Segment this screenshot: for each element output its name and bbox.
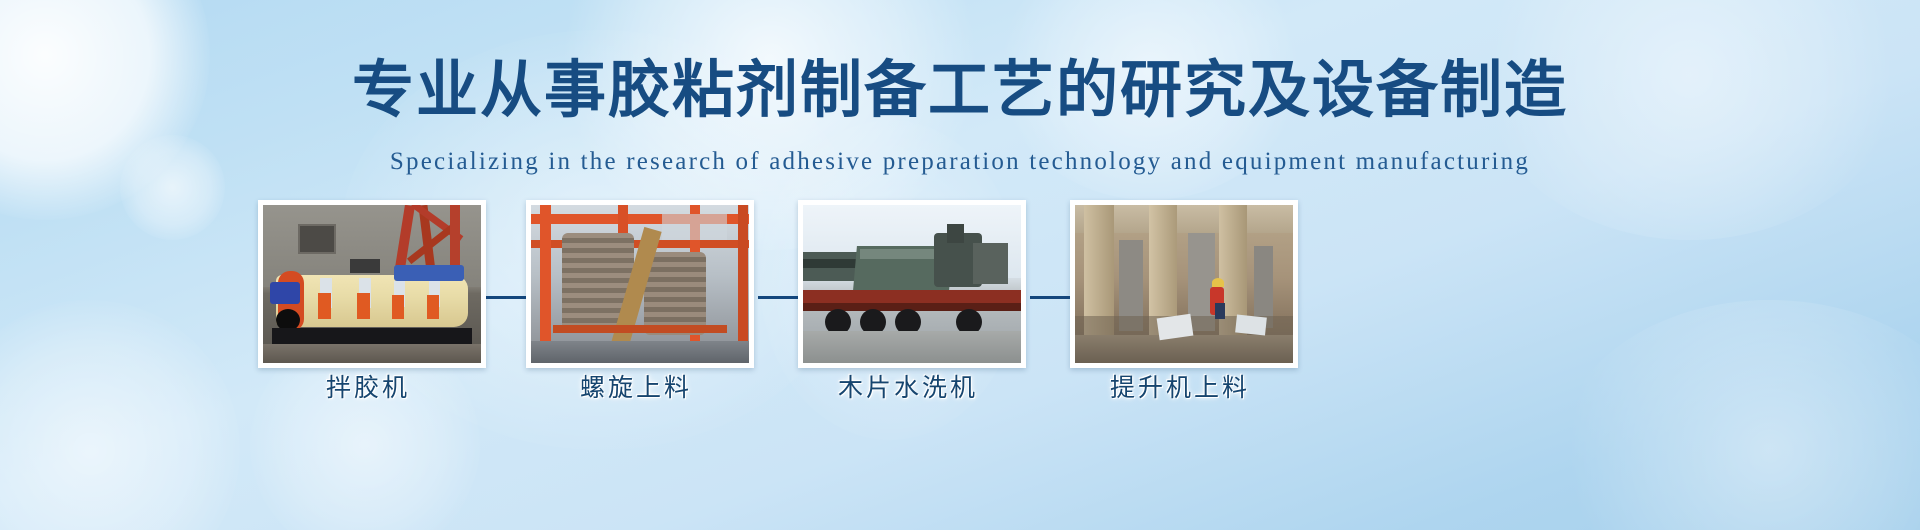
product-photo-strip: 拌胶机 螺旋上料 木片水洗机 提升机上料 bbox=[0, 200, 1920, 420]
hero-banner: 专业从事胶粘剂制备工艺的研究及设备制造 Specializing in the … bbox=[0, 0, 1920, 530]
gallery-caption-3: 木片水洗机 bbox=[758, 368, 1058, 404]
gallery-photo-4[interactable] bbox=[1070, 200, 1298, 368]
gallery-caption-2: 螺旋上料 bbox=[486, 368, 786, 404]
gallery-caption-1: 拌胶机 bbox=[218, 368, 518, 404]
banner-headline: 专业从事胶粘剂制备工艺的研究及设备制造 bbox=[0, 55, 1920, 124]
gallery-photo-3[interactable] bbox=[798, 200, 1026, 368]
gallery-photo-2[interactable] bbox=[526, 200, 754, 368]
gallery-caption-4: 提升机上料 bbox=[1030, 368, 1330, 404]
banner-subtitle: Specializing in the research of adhesive… bbox=[0, 148, 1920, 176]
gallery-photo-1[interactable] bbox=[258, 200, 486, 368]
